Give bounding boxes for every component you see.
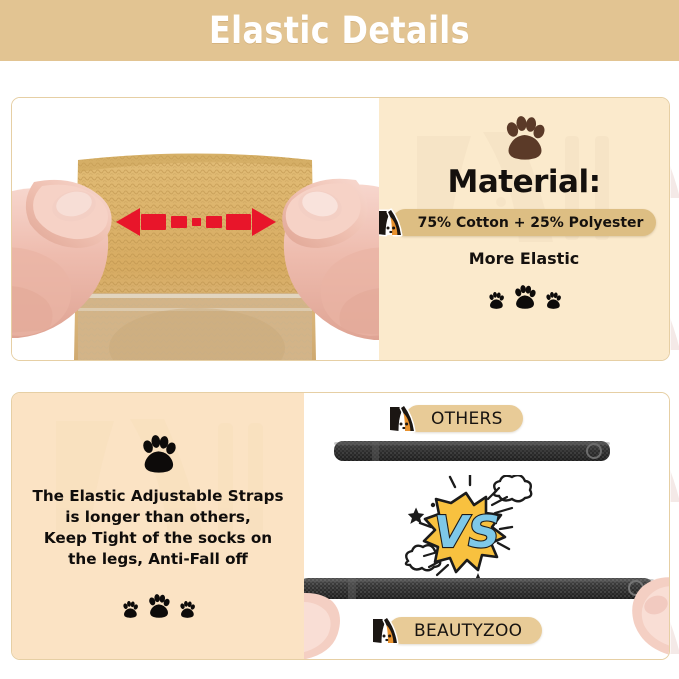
beautyzoo-label-pill: BEAUTYZOO — [388, 617, 542, 644]
dog-face-icon — [387, 404, 421, 434]
material-composition-text: 75% Cotton + 25% Polyester — [418, 215, 644, 231]
strap-description-panel: The Elastic Adjustable Straps is longer … — [12, 393, 304, 659]
paw-print-icon — [121, 601, 139, 618]
sock-stretch-photo — [12, 98, 379, 360]
dog-face-icon — [370, 616, 404, 646]
paw-print-icon — [138, 435, 178, 473]
elastic-detail-card: Material: 75% Cotton + 25% Polyester — [11, 97, 670, 361]
dog-face-icon — [379, 208, 408, 238]
beautyzoo-label-text: BEAUTYZOO — [414, 621, 522, 641]
page-title: Elastic Details — [48, 0, 632, 61]
paw-print-icon — [146, 594, 171, 618]
paw-decoration-row — [487, 285, 562, 309]
paw-print-icon — [512, 285, 537, 309]
paw-print-icon — [501, 116, 547, 160]
infographic-page: Elastic Details — [0, 0, 679, 679]
material-composition-pill: 75% Cotton + 25% Polyester — [392, 209, 657, 236]
strap-description-text: The Elastic Adjustable Straps is longer … — [32, 486, 283, 570]
strap-comparison-panel: OTHERS — [304, 393, 669, 659]
adjustable-strap-card: The Elastic Adjustable Straps is longer … — [11, 392, 670, 660]
material-panel: Material: 75% Cotton + 25% Polyester — [379, 98, 669, 360]
strap-description-line: is longer than others, — [32, 507, 283, 528]
paw-print-icon — [487, 292, 505, 309]
paw-print-icon — [178, 601, 196, 618]
strap-description-line: the legs, Anti-Fall off — [32, 549, 283, 570]
material-subtitle: More Elastic — [469, 249, 580, 268]
right-hand-image — [626, 575, 669, 659]
strap-description-line: Keep Tight of the socks on — [32, 528, 283, 549]
paw-decoration-row — [121, 594, 196, 618]
strap-description-line: The Elastic Adjustable Straps — [32, 486, 283, 507]
paw-print-icon — [544, 292, 562, 309]
others-strap-image — [334, 440, 610, 462]
vs-text: VS — [434, 507, 500, 558]
material-title: Material: — [448, 164, 601, 200]
beautyzoo-strap-image — [304, 575, 660, 603]
others-label-pill: OTHERS — [405, 405, 523, 432]
others-label-text: OTHERS — [431, 409, 503, 429]
left-hand-image — [304, 589, 346, 659]
header-banner: Elastic Details — [0, 0, 679, 61]
